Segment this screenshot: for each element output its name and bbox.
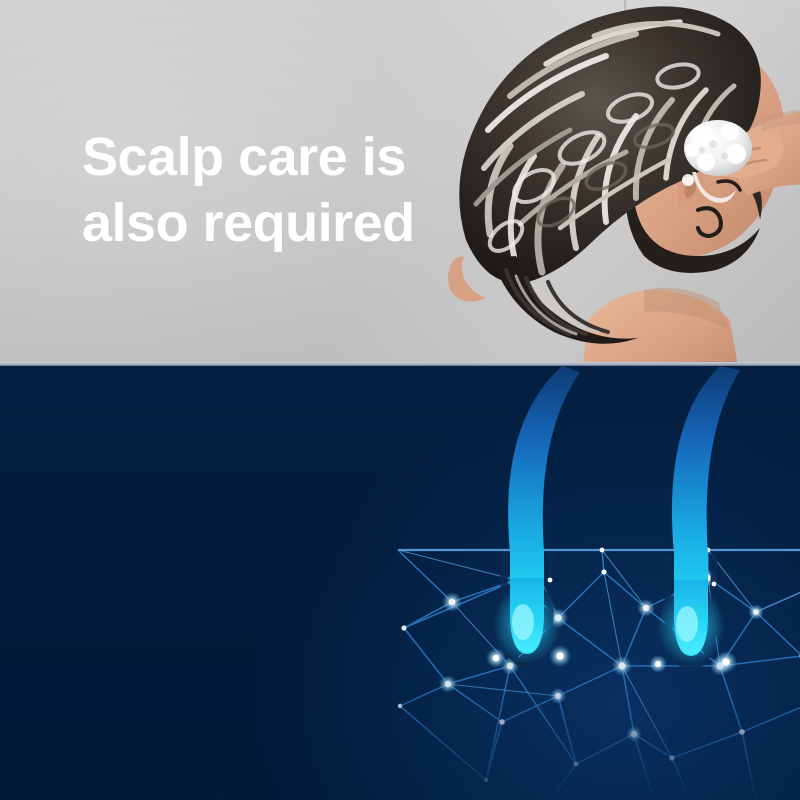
scalp-care-promo-card: Scalp care is also required	[0, 0, 800, 800]
mesh-nodes	[398, 548, 800, 783]
page-title: SCALP CARE	[50, 791, 320, 800]
hero-headline: Scalp care is also required	[82, 124, 415, 256]
hair-follicle-2	[657, 366, 740, 666]
hair-follicle-diagram	[390, 366, 800, 800]
hero-photo-section: Scalp care is also required	[0, 0, 800, 366]
collagen-network-mesh	[398, 548, 800, 800]
hero-photo-image	[430, 0, 800, 366]
scalp-care-info-section: SCALP CARE ◆ Houttuynia Cordata Extract …	[0, 366, 800, 800]
headline-line-2: also required	[82, 190, 415, 256]
headline-line-1: Scalp care is	[82, 124, 415, 190]
